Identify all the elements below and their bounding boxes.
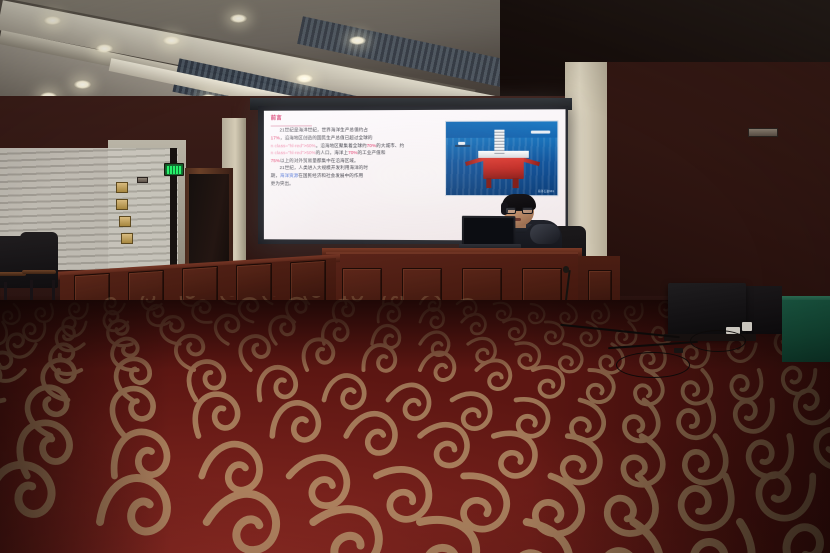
downlight-1 [44,16,61,25]
slide-body-text: 21世纪是海洋世纪，世界海洋生产总值约占17%，沿海地区创造的国民生产总值已超过… [271,126,437,187]
coiled-cable-2 [616,352,690,378]
wall-art-4 [121,233,133,244]
laptop[interactable] [462,216,515,246]
slide-line-5: 75%以上的对外贸易量都集中在沿海区域。 [271,157,437,165]
slide-line-6: 21世纪，人类进入大规模开发利用海洋的时 [271,164,437,172]
glasses-lens-right [522,207,533,214]
support-vessel-hull [455,144,470,147]
conference-room-scene: 前言 21世纪是海洋世纪，世界海洋生产总值约占17%，沿海地区创造的国民生产总值… [0,0,830,553]
exit-sign-icon [164,163,184,176]
tanker-vessel [530,131,550,133]
floor-shadow-left [0,300,170,553]
support-vessel-cabin [458,142,465,145]
downlight-4 [230,14,247,23]
slide-title-underline [271,125,312,126]
wall-art-3 [119,216,131,227]
wall-art-2 [116,199,128,210]
laptop-screen [464,218,514,244]
chair-armrest-2 [22,270,56,274]
glasses-icon [505,207,533,214]
wall-art-1 [116,182,128,193]
glasses-lens-left [505,207,516,214]
side-table [782,300,830,362]
rig-leg-left [486,178,492,188]
downlight-5 [74,80,91,89]
photo-caption: 海洋石油981 [538,189,554,193]
coiled-cable [690,330,746,352]
downlight-9 [349,36,366,45]
presenter-shoulder-highlight [530,224,560,244]
microphone-icon [563,266,569,273]
exit-sign-glow [167,166,182,174]
offshore-oil-platform-photo: 海洋石油981 [445,120,558,196]
downlight-3 [163,36,180,45]
light-switch-1[interactable] [748,128,778,137]
downlight-2 [96,44,113,53]
cable-connector-box-2 [742,322,752,331]
floor-cable-plug [674,348,683,353]
slide-line-8: 更为突出。 [271,180,437,188]
light-switch-2[interactable] [137,177,148,183]
slide-line-7: 期，海洋资源在国民经济和社会发展中的作用 [271,172,437,180]
downlight-8 [296,74,313,83]
rig-derrick-tower [495,130,505,154]
rig-leg-right [513,178,519,188]
